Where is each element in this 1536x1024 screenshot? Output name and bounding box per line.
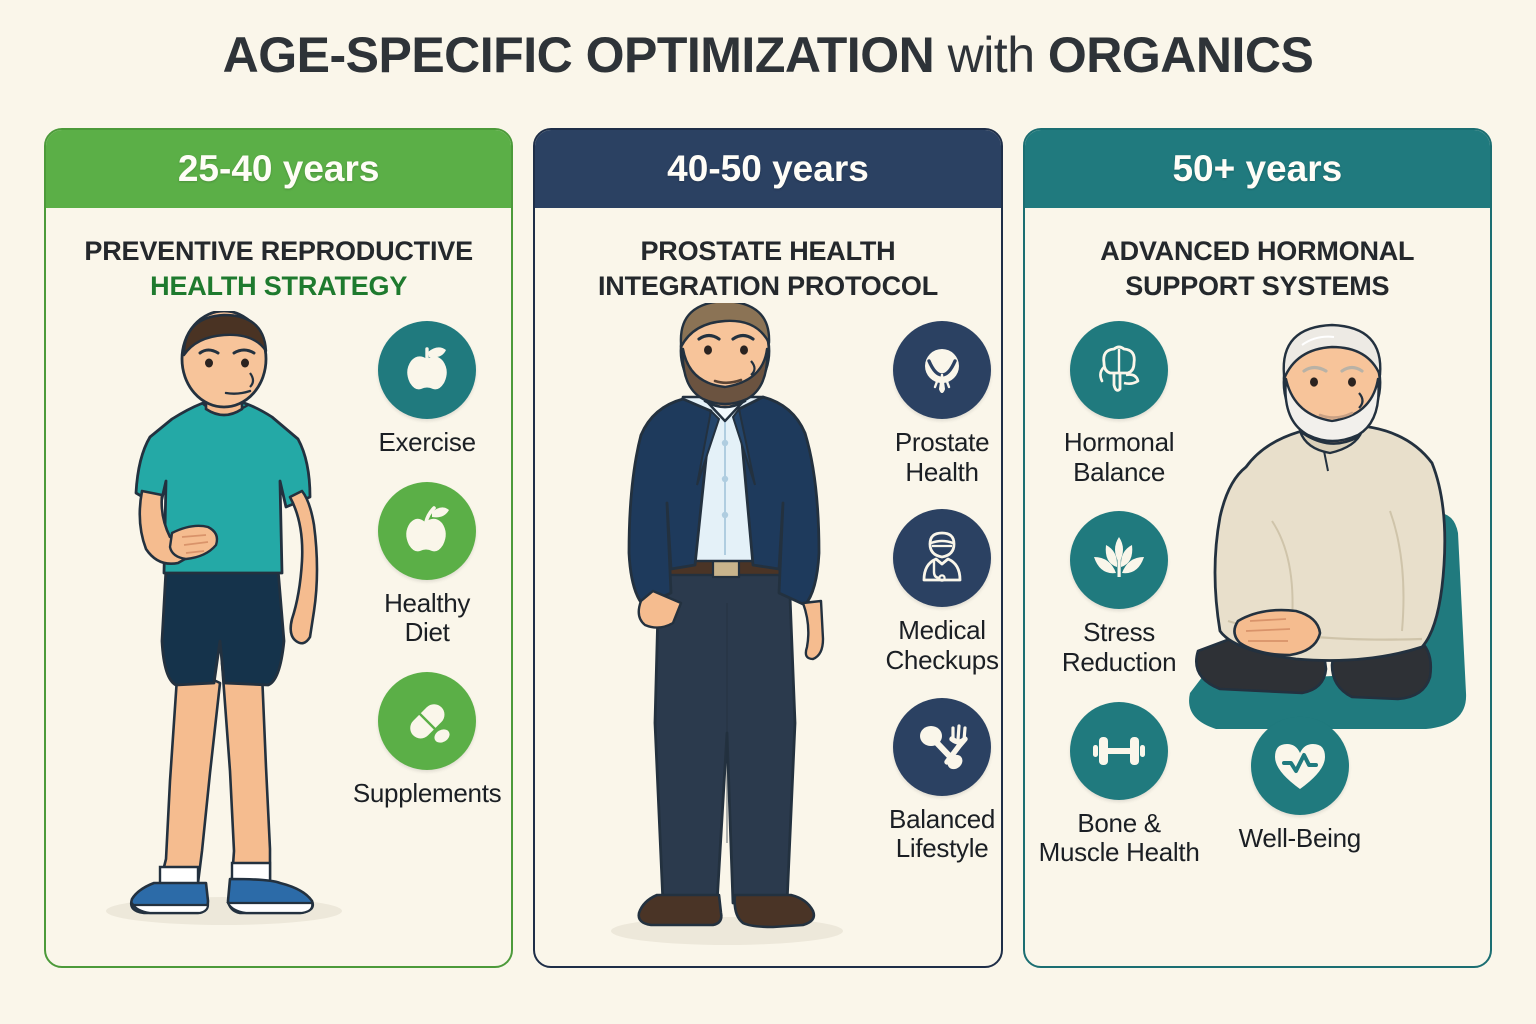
- heart-pulse-icon: [1251, 717, 1349, 815]
- subtitle-line-1: PREVENTIVE REPRODUCTIVE: [56, 234, 501, 269]
- icon-column-40-50: Prostate Health: [885, 321, 998, 886]
- subtitle-line-1: ADVANCED HORMONAL: [1035, 234, 1480, 269]
- header-label: 50+ years: [1172, 148, 1342, 190]
- header-label: 25-40 years: [178, 148, 380, 190]
- icon-item-bone-muscle-health[interactable]: Bone & Muscle Health: [1039, 702, 1200, 868]
- icon-item-well-being[interactable]: Well-Being: [1239, 717, 1361, 854]
- icon-column-25-40: Exercise Healthy Diet: [353, 321, 501, 833]
- icon-item-supplements[interactable]: Supplements: [353, 672, 501, 809]
- spoon-fork-icon: [893, 698, 991, 796]
- subtitle-line-2: SUPPORT SYSTEMS: [1035, 269, 1480, 304]
- card-subtitle-50-plus: ADVANCED HORMONAL SUPPORT SYSTEMS: [1025, 234, 1490, 303]
- icon-label-hormonal-balance: Hormonal Balance: [1064, 428, 1174, 487]
- card-header-40-50: 40-50 years: [535, 130, 1000, 208]
- brain-thyroid-icon: [1070, 321, 1168, 419]
- subtitle-line-2: HEALTH STRATEGY: [56, 269, 501, 304]
- card-header-50-plus: 50+ years: [1025, 130, 1490, 208]
- apple-leaf-icon: [378, 482, 476, 580]
- icon-item-prostate-health[interactable]: Prostate Health: [893, 321, 991, 487]
- dumbbell-icon: [1070, 702, 1168, 800]
- card-subtitle-40-50: PROSTATE HEALTH INTEGRATION PROTOCOL: [535, 234, 1000, 303]
- icon-column-wellbeing: Well-Being: [1239, 717, 1361, 878]
- icon-label-balanced-lifestyle: Balanced Lifestyle: [889, 805, 995, 864]
- prostate-anatomy-icon: [893, 321, 991, 419]
- icon-label-bone-muscle-health: Bone & Muscle Health: [1039, 809, 1200, 868]
- icon-label-exercise: Exercise: [378, 428, 475, 458]
- icon-label-medical-checkups: Medical Checkups: [885, 616, 998, 675]
- card-subtitle-25-40: PREVENTIVE REPRODUCTIVE HEALTH STRATEGY: [46, 234, 511, 303]
- apple-icon: [378, 321, 476, 419]
- icon-label-well-being: Well-Being: [1239, 824, 1361, 854]
- icon-item-balanced-lifestyle[interactable]: Balanced Lifestyle: [889, 698, 995, 864]
- figure-middle-aged-man: [577, 303, 867, 958]
- icon-label-supplements: Supplements: [353, 779, 501, 809]
- capsule-pill-icon: [378, 672, 476, 770]
- subtitle-line-2: INTEGRATION PROTOCOL: [545, 269, 990, 304]
- icon-item-medical-checkups[interactable]: Medical Checkups: [885, 509, 998, 675]
- page-title-bold-1: AGE-SPECIFIC OPTIMIZATION: [223, 27, 935, 83]
- icon-label-prostate-health: Prostate Health: [895, 428, 989, 487]
- age-columns: 25-40 years PREVENTIVE REPRODUCTIVE HEAL…: [44, 128, 1492, 968]
- subtitle-line-1: PROSTATE HEALTH: [545, 234, 990, 269]
- card-body-50-plus: Hormonal Balance: [1025, 303, 1490, 963]
- figure-young-man: [74, 311, 354, 936]
- icon-item-stress-reduction[interactable]: Stress Reduction: [1062, 511, 1176, 677]
- card-body-40-50: Prostate Health: [535, 303, 1000, 963]
- card-age-25-40: 25-40 years PREVENTIVE REPRODUCTIVE HEAL…: [44, 128, 513, 968]
- icon-column-50-plus: Hormonal Balance: [1039, 321, 1200, 892]
- icon-label-healthy-diet: Healthy Diet: [384, 589, 470, 648]
- card-age-50-plus: 50+ years ADVANCED HORMONAL SUPPORT SYST…: [1023, 128, 1492, 968]
- header-label: 40-50 years: [667, 148, 869, 190]
- icon-item-healthy-diet[interactable]: Healthy Diet: [378, 482, 476, 648]
- page-title-bold-2: ORGANICS: [1048, 27, 1313, 83]
- icon-label-stress-reduction: Stress Reduction: [1062, 618, 1176, 677]
- page-title: AGE-SPECIFIC OPTIMIZATION with ORGANICS: [0, 26, 1536, 84]
- icon-item-exercise[interactable]: Exercise: [378, 321, 476, 458]
- doctor-icon: [893, 509, 991, 607]
- card-age-40-50: 40-50 years PROSTATE HEALTH INTEGRATION …: [533, 128, 1002, 968]
- icon-item-hormonal-balance[interactable]: Hormonal Balance: [1064, 321, 1174, 487]
- card-body-25-40: Exercise Healthy Diet: [46, 303, 511, 963]
- page-title-light: with: [934, 27, 1048, 83]
- lotus-leaf-icon: [1070, 511, 1168, 609]
- infographic-page: AGE-SPECIFIC OPTIMIZATION with ORGANICS …: [0, 0, 1536, 1024]
- card-header-25-40: 25-40 years: [46, 130, 511, 208]
